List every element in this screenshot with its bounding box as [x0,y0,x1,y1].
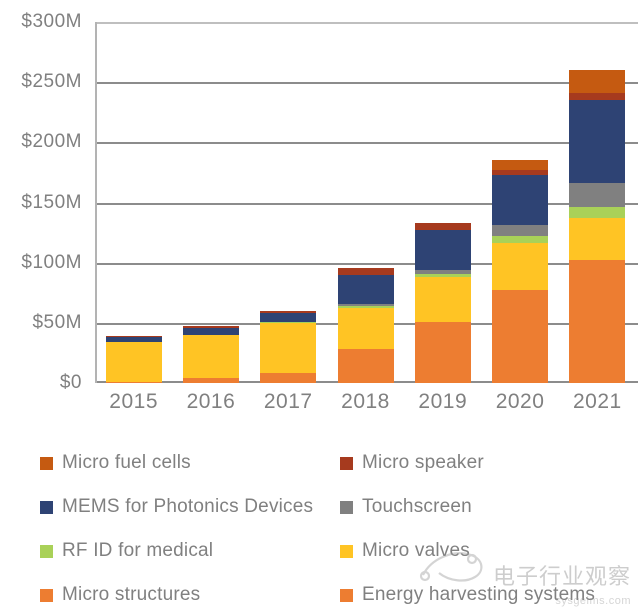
y-axis-tick-label: $50M [32,312,82,334]
bar-segment [415,230,471,270]
bar-segment [415,223,471,230]
y-axis-tick-label: $100M [21,252,82,274]
bar-segment [260,323,316,374]
legend-label: Energy harvesting systems [362,584,595,606]
legend-label: MEMS for Photonics Devices [62,496,313,518]
bar-segment [569,100,625,183]
bar-segment [106,382,162,383]
legend-swatch-icon [340,589,353,602]
stacked-bar-chart: $0$50M$100M$150M$200M$250M$300M 20152016… [0,0,641,613]
legend-swatch-icon [340,501,353,514]
legend-item[interactable]: Micro structures [40,584,200,606]
bar-segment [338,275,394,304]
x-axis-tick-label-2017: 2017 [264,390,313,414]
bar-group-2017 [260,311,316,383]
bar-group-2021 [569,70,625,383]
legend-swatch-icon [40,457,53,470]
y-axis: $0$50M$100M$150M$200M$250M$300M [0,0,90,385]
bar-segment [260,313,316,321]
bar-segment [492,160,548,170]
legend-label: Micro fuel cells [62,452,191,474]
bar-segment [569,260,625,383]
y-axis-tick-label: $300M [21,11,82,33]
bar-group-2019 [415,223,471,383]
bar-group-2018 [338,268,394,384]
bar-segment [338,268,394,275]
bar-segment [183,335,239,378]
bar-segment [338,308,394,349]
bar-group-2015 [106,336,162,383]
legend-item[interactable]: Energy harvesting systems [340,584,595,606]
x-axis-tick-label-2021: 2021 [573,390,622,414]
bar-segment [569,70,625,93]
legend-swatch-icon [340,457,353,470]
legend-item[interactable]: RF ID for medical [40,540,213,562]
legend-item[interactable]: Touchscreen [340,496,472,518]
x-axis-tick-label-2018: 2018 [341,390,390,414]
bar-segment [106,342,162,382]
bar-segment [569,207,625,218]
legend-label: Micro valves [362,540,470,562]
bar-group-2016 [183,326,239,383]
y-axis-tick-label: $0 [60,372,82,394]
bar-segment [260,373,316,383]
bars-layer [95,22,636,383]
legend-swatch-icon [40,501,53,514]
bar-segment [569,93,625,100]
legend-swatch-icon [40,589,53,602]
bar-segment [569,218,625,260]
legend-item[interactable]: Micro speaker [340,452,484,474]
bar-segment [415,277,471,322]
x-axis-tick-label-2016: 2016 [187,390,236,414]
y-axis-tick-label: $250M [21,71,82,93]
chart-legend: Micro fuel cellsMicro speakerMEMS for Ph… [40,452,641,613]
bar-segment [492,290,548,383]
bar-segment [338,349,394,383]
legend-label: Touchscreen [362,496,472,518]
y-axis-tick-label: $150M [21,192,82,214]
legend-item[interactable]: MEMS for Photonics Devices [40,496,313,518]
bar-segment [492,243,548,290]
legend-item[interactable]: Micro fuel cells [40,452,191,474]
bar-segment [492,236,548,243]
x-axis-tick-label-2015: 2015 [109,390,158,414]
bar-segment [569,183,625,207]
legend-swatch-icon [40,545,53,558]
bar-segment [492,175,548,226]
bar-segment [492,225,548,236]
legend-item[interactable]: Micro valves [340,540,470,562]
bar-segment [183,378,239,383]
bar-group-2020 [492,160,548,383]
legend-swatch-icon [340,545,353,558]
bar-segment [415,322,471,383]
legend-label: RF ID for medical [62,540,213,562]
bar-segment [183,328,239,335]
y-axis-tick-label: $200M [21,131,82,153]
plot-wrapper: $0$50M$100M$150M$200M$250M$300M 20152016… [0,0,641,430]
x-axis-tick-label-2019: 2019 [418,390,467,414]
legend-label: Micro structures [62,584,200,606]
x-axis: 2015201620172018201920202021 [95,390,636,424]
legend-label: Micro speaker [362,452,484,474]
x-axis-tick-label-2020: 2020 [496,390,545,414]
